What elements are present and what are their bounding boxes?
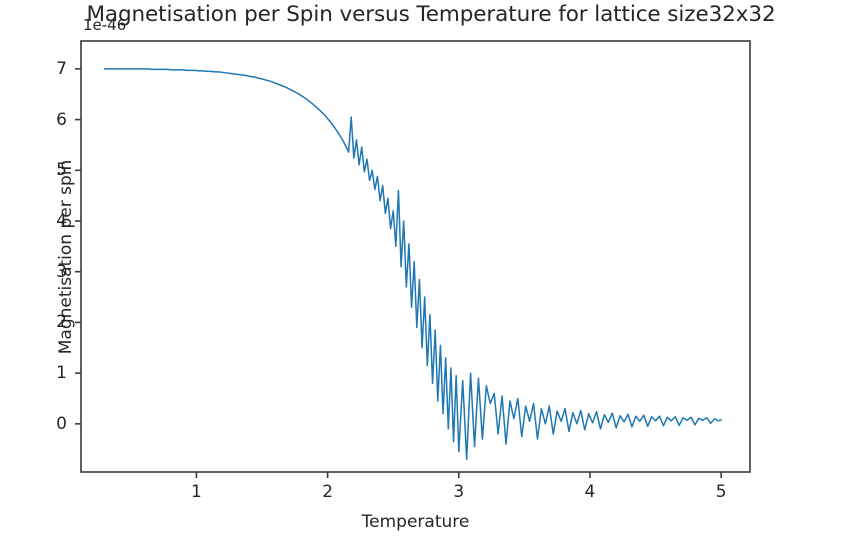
axes-spines <box>81 41 750 472</box>
x-axis-label: Temperature <box>81 512 750 532</box>
y-tick-label: 5 <box>39 160 67 180</box>
x-tick-label: 3 <box>453 482 464 502</box>
matplotlib-figure: Magnetisation per Spin versus Temperatur… <box>0 0 862 550</box>
y-tick-label: 0 <box>39 414 67 434</box>
y-tick-label: 2 <box>39 312 67 332</box>
y-tick-label: 7 <box>39 59 67 79</box>
plot-area <box>0 0 862 550</box>
y-tick-label: 6 <box>39 110 67 130</box>
x-tick-label: 5 <box>716 482 727 502</box>
x-tick-label: 4 <box>585 482 596 502</box>
data-line-magnetisation-per-spin <box>105 69 722 459</box>
y-tick-label: 3 <box>39 262 67 282</box>
y-tick-label: 1 <box>39 363 67 383</box>
x-tick-label: 1 <box>191 482 202 502</box>
y-tick-label: 4 <box>39 211 67 231</box>
x-tick-label: 2 <box>322 482 333 502</box>
